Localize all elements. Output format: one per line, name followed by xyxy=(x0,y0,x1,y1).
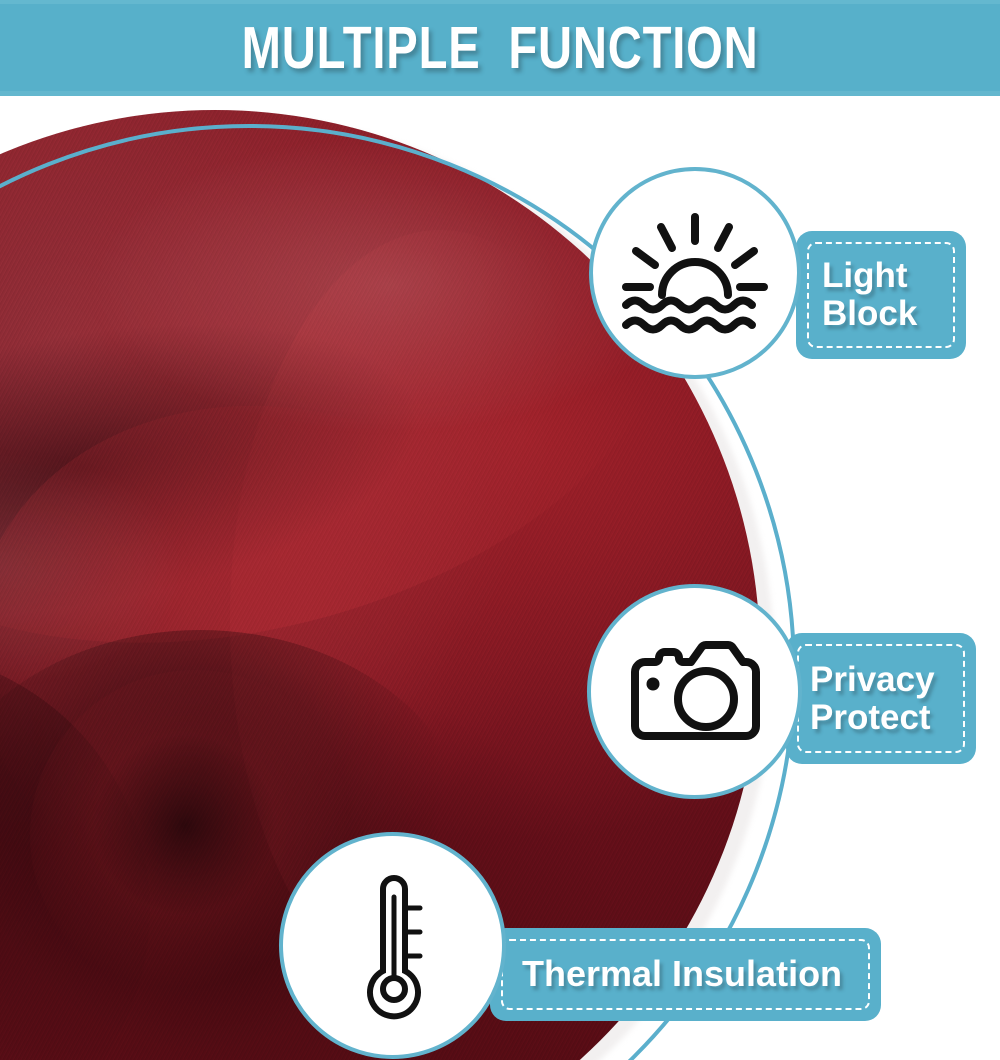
feature-plaque-light-block[interactable]: Light Block xyxy=(796,231,966,359)
sunrise-icon xyxy=(620,207,770,339)
feature-label-line: Light xyxy=(822,257,917,295)
feature-label-line: Privacy xyxy=(810,661,935,699)
thermometer-icon xyxy=(344,871,442,1021)
header-banner: MULTIPLE FUNCTION xyxy=(0,0,1000,96)
page-title: MULTIPLE FUNCTION xyxy=(242,19,759,78)
feature-label-light-block: Light Block xyxy=(796,257,917,333)
feature-plaque-privacy-protect[interactable]: Privacy Protect xyxy=(786,633,976,764)
feature-label-privacy-protect: Privacy Protect xyxy=(786,661,935,737)
infographic-canvas: MULTIPLE FUNCTION Light Block xyxy=(0,0,1000,1060)
feature-label-line: Block xyxy=(822,295,917,333)
feature-label-line: Protect xyxy=(810,699,935,737)
feature-badge-privacy-protect[interactable] xyxy=(587,584,802,799)
feature-badge-light-block[interactable] xyxy=(589,167,801,379)
feature-label-thermal-insulation: Thermal Insulation xyxy=(490,955,842,994)
feature-plaque-thermal-insulation[interactable]: Thermal Insulation xyxy=(490,928,881,1021)
camera-icon xyxy=(629,638,761,746)
feature-badge-thermal-insulation[interactable] xyxy=(279,832,506,1059)
